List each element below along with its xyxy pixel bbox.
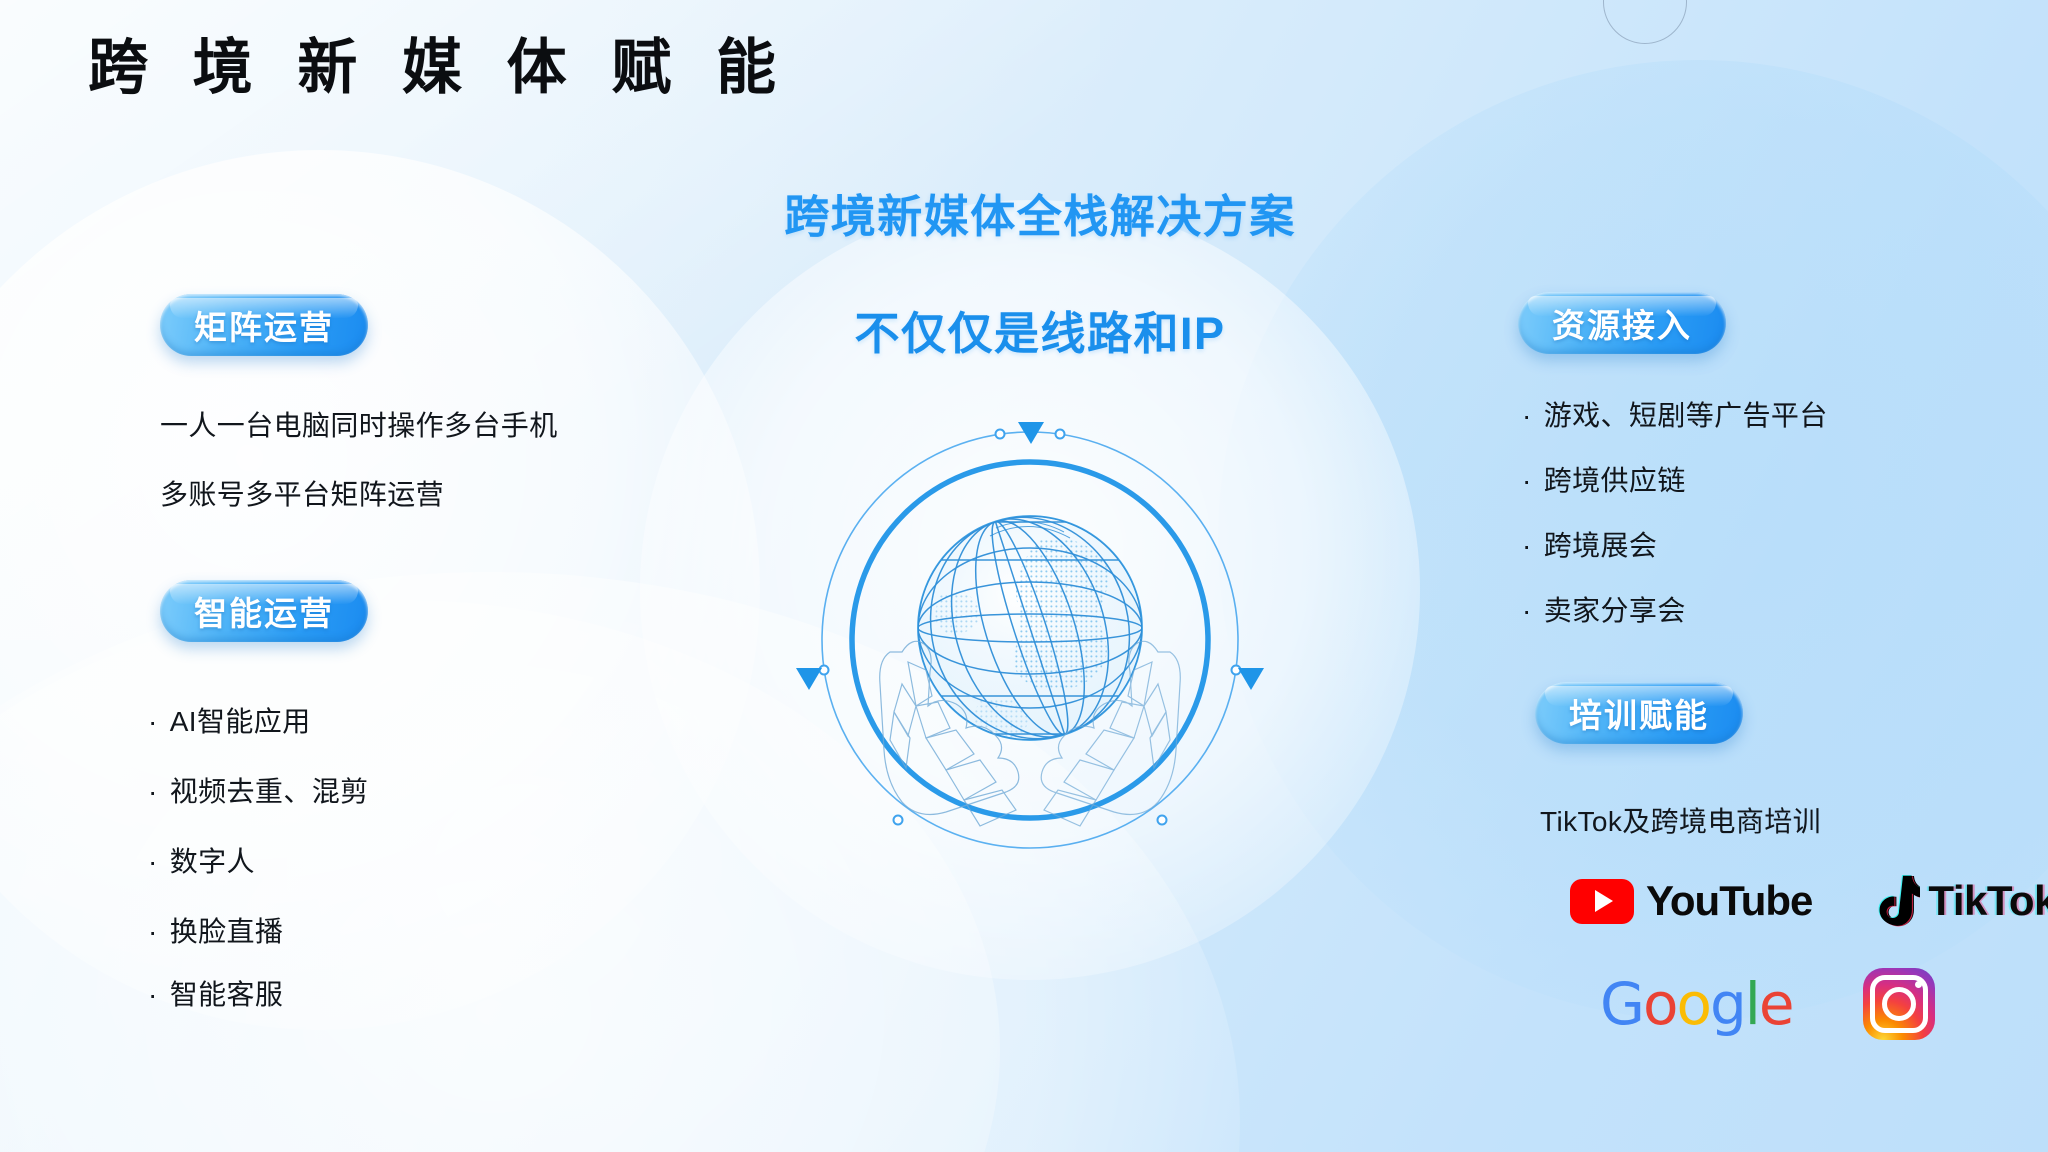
- list-item: ·跨境供应链: [1522, 459, 1686, 499]
- bullet-dot: ·: [1522, 465, 1532, 497]
- list-item-label: 跨境供应链: [1544, 465, 1686, 496]
- left-line-2: 多账号多平台矩阵运营: [160, 473, 444, 513]
- list-item-label: 智能客服: [170, 979, 284, 1010]
- instagram-lens-icon: [1882, 987, 1916, 1021]
- list-item: ·智能客服: [148, 973, 283, 1013]
- bullet-dot: ·: [148, 979, 158, 1011]
- badge-resource-access[interactable]: 资源接入: [1518, 292, 1726, 354]
- center-headline-group: 跨境新媒体全栈解决方案 不仅仅是线路和IP: [640, 180, 1440, 362]
- youtube-logo[interactable]: YouTube: [1570, 877, 1812, 925]
- list-item: ·数字人: [148, 840, 255, 880]
- list-item: ·视频去重、混剪: [148, 770, 369, 810]
- list-item-label: 视频去重、混剪: [170, 776, 369, 807]
- badge-training-empowerment[interactable]: 培训赋能: [1535, 682, 1743, 744]
- instagram-logo[interactable]: [1863, 968, 1935, 1040]
- google-letter-o2: o: [1676, 970, 1710, 1038]
- list-item-label: 跨境展会: [1544, 530, 1658, 561]
- badge-label: 智能运营: [194, 587, 334, 635]
- google-letter-e: e: [1759, 970, 1793, 1038]
- decorative-ring-icon: [1603, 0, 1687, 44]
- bullet-dot: ·: [1522, 400, 1532, 432]
- page-title: 跨 境 新 媒 体 赋 能: [88, 38, 790, 98]
- training-caption: TikTok及跨境电商培训: [1540, 800, 1821, 840]
- google-letter-l: l: [1745, 970, 1759, 1038]
- tiktok-wordmark: TikTok: [1928, 877, 2048, 925]
- google-letter-G: G: [1600, 970, 1643, 1038]
- bullet-dot: ·: [1522, 530, 1532, 562]
- logo-row-top: YouTube TikTok: [1570, 875, 2048, 927]
- list-item: ·卖家分享会: [1522, 589, 1686, 629]
- bullet-dot: ·: [148, 776, 158, 808]
- headline-secondary: 不仅仅是线路和IP: [640, 297, 1440, 362]
- badge-matrix-operations[interactable]: 矩阵运营: [160, 294, 368, 356]
- list-item-label: AI智能应用: [170, 706, 311, 737]
- list-item-label: 换脸直播: [170, 916, 284, 947]
- globe-in-hands-illustration: [790, 400, 1270, 880]
- badge-label: 资源接入: [1552, 299, 1692, 347]
- headline-primary: 跨境新媒体全栈解决方案: [640, 180, 1440, 245]
- google-letter-o1: o: [1643, 970, 1677, 1038]
- list-item: ·AI智能应用: [148, 700, 311, 740]
- left-line-1: 一人一台电脑同时操作多台手机: [160, 404, 558, 444]
- bullet-dot: ·: [148, 846, 158, 878]
- tiktok-logo[interactable]: TikTok: [1874, 875, 2048, 927]
- youtube-play-icon: [1570, 879, 1634, 924]
- slide-canvas: 跨 境 新 媒 体 赋 能 跨境新媒体全栈解决方案 不仅仅是线路和IP 矩阵运营…: [0, 0, 2048, 1152]
- list-item-label: 数字人: [170, 846, 255, 877]
- badge-smart-operations[interactable]: 智能运营: [160, 580, 368, 642]
- youtube-wordmark: YouTube: [1646, 877, 1812, 925]
- google-logo[interactable]: Google: [1600, 970, 1793, 1038]
- list-item: ·游戏、短剧等广告平台: [1522, 394, 1828, 434]
- list-item-label: 卖家分享会: [1544, 595, 1686, 626]
- tiktok-note-icon: [1874, 875, 1920, 927]
- instagram-dot-icon: [1915, 981, 1922, 988]
- bullet-dot: ·: [148, 916, 158, 948]
- list-item: ·换脸直播: [148, 910, 283, 950]
- badge-label: 矩阵运营: [194, 301, 334, 349]
- list-item: ·跨境展会: [1522, 524, 1657, 564]
- bullet-dot: ·: [1522, 595, 1532, 627]
- google-letter-g: g: [1710, 970, 1745, 1038]
- badge-label: 培训赋能: [1569, 689, 1709, 737]
- list-item-label: 游戏、短剧等广告平台: [1544, 400, 1828, 431]
- bullet-dot: ·: [148, 706, 158, 738]
- logo-row-bottom: Google: [1600, 968, 1935, 1040]
